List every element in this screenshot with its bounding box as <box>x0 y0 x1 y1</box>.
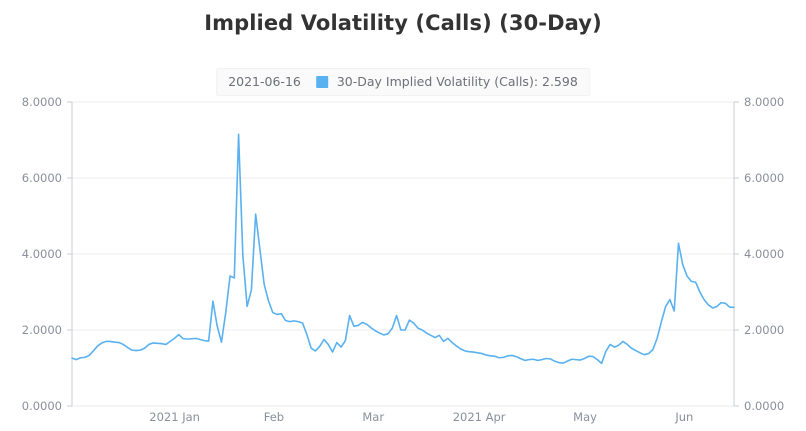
y-axis-left-label: 2.0000 <box>0 324 62 336</box>
y-axis-right-label: 8.0000 <box>744 96 806 108</box>
legend-color-swatch-icon <box>316 76 328 88</box>
series-line-30day-implied-volatility-calls <box>72 134 734 363</box>
gridlines <box>72 102 734 406</box>
y-axis-left-label: 8.0000 <box>0 96 62 108</box>
x-axis-label: Jun <box>624 411 744 423</box>
x-axis-label: Mar <box>313 411 433 423</box>
y-axis-right-ticks <box>734 102 739 406</box>
y-axis-right-label: 0.0000 <box>744 400 806 412</box>
y-axis-right-label: 6.0000 <box>744 172 806 184</box>
y-axis-left-label: 0.0000 <box>0 400 62 412</box>
page-title: Implied Volatility (Calls) (30-Day) <box>0 8 806 38</box>
plot-area[interactable] <box>0 0 806 431</box>
chart-container: Implied Volatility (Calls) (30-Day) 2021… <box>0 0 806 431</box>
tooltip-date: 2021-06-16 <box>228 74 307 89</box>
chart-tooltip: 2021-06-16 30-Day Implied Volatility (Ca… <box>216 68 590 96</box>
y-axis-right-label: 4.0000 <box>744 248 806 260</box>
y-axis-left-label: 6.0000 <box>0 172 62 184</box>
y-axis-left-label: 4.0000 <box>0 248 62 260</box>
tooltip-series-value: 30-Day Implied Volatility (Calls): 2.598 <box>337 74 578 89</box>
x-axis-label: 2021 Apr <box>419 411 539 423</box>
y-axis-right-label: 2.0000 <box>744 324 806 336</box>
y-axis-left-ticks <box>67 102 72 406</box>
